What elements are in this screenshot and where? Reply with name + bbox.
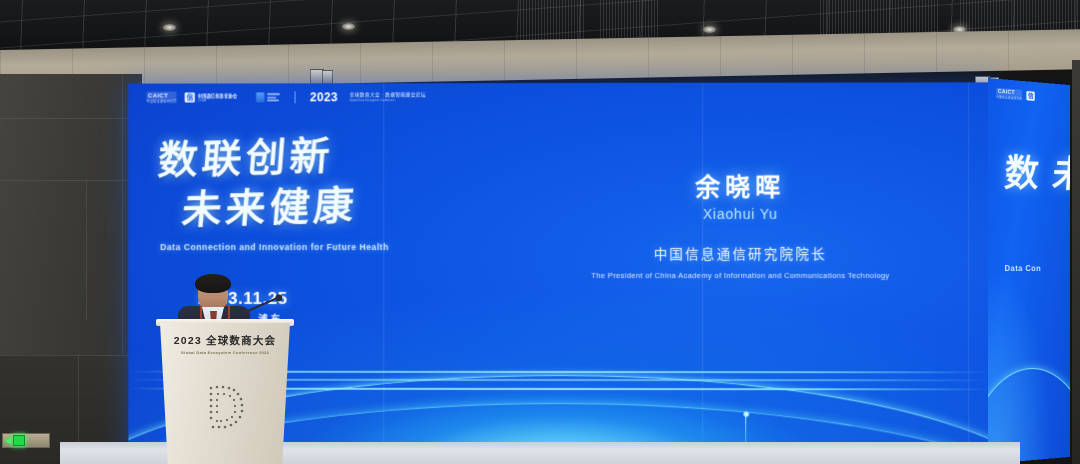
speaker-card: 余晓晖 Xiaohui Yu 中国信息通信研究院院长 The President… [525, 175, 956, 280]
title-line-2: 未来健康 [180, 185, 394, 231]
led-header-logos: CAICT 中国信息通信研究院 信 中国通信标准化协会 CCSA 2023 全球… [146, 91, 426, 104]
podium-sign: 2023 全球数商大会 Global Data Ecosystem Confer… [160, 333, 290, 355]
led-right-subtitle: Data Con [1005, 263, 1042, 273]
title-line-1: 数联创新 [156, 135, 394, 181]
ceiling-downlight [703, 26, 716, 33]
speaker-role-cn: 中国信息通信研究院院长 [525, 242, 956, 262]
event-name-en: Global Data Ecosystem Conference [350, 99, 426, 103]
ccsa-logo-sub: CCSA [198, 99, 237, 103]
header-divider [294, 92, 295, 104]
ccsa-logo: 信 [1027, 91, 1035, 101]
caict-logo-sub: 中国信息通信研究院 [146, 101, 176, 104]
speaker-name-en: Xiaohui Yu [525, 205, 956, 221]
led-right-title: 数 未 [1002, 146, 1070, 203]
ccsa-logo-name: 中国通信标准化协会 [198, 93, 237, 99]
event-emblem-icon [256, 93, 279, 103]
ccsa-logo-mark: 信 [185, 93, 195, 103]
caict-logo-sub: 中国信息通信研究院 [996, 96, 1022, 101]
right-wall-edge [1072, 60, 1080, 464]
caict-logo: CAICT 中国信息通信研究院 [996, 88, 1022, 102]
conference-photo: CAICT 中国信息通信研究院 信 中国通信标准化协会 CCSA 2023 全球… [0, 0, 1080, 464]
ceiling-speaker-box [322, 70, 333, 84]
led-title-block: 数联创新 未来健康 Data Connection and Innovation… [158, 138, 392, 252]
event-year: 2023 [310, 92, 338, 104]
speaker-hair [195, 274, 231, 293]
caict-logo: CAICT 中国信息通信研究院 [146, 92, 176, 105]
caict-logo-mark: CAICT [146, 92, 176, 100]
podium-sign-cn: 2023 全球数商大会 [160, 333, 290, 348]
exit-arrow-icon [5, 438, 11, 444]
exit-sign [2, 433, 50, 448]
speaker-role-en: The President of China Academy of Inform… [525, 270, 956, 279]
running-man-icon [13, 435, 25, 446]
ceiling-downlight [342, 23, 355, 30]
ccsa-logo-mark: 信 [1027, 91, 1035, 101]
podium-logo-d-icon [203, 383, 247, 431]
speaker-name-cn: 余晓晖 [525, 175, 956, 203]
led-wall-right: CAICT 中国信息通信研究院 信 数 未 Data Con [988, 78, 1070, 464]
podium-sign-en: Global Data Ecosystem Conference 2023 [160, 350, 290, 355]
ceiling-downlight [163, 24, 176, 31]
ccsa-logo: 信 中国通信标准化协会 CCSA [185, 93, 237, 103]
led-right-header-logos: CAICT 中国信息通信研究院 信 [996, 88, 1035, 103]
title-subtitle-en: Data Connection and Innovation for Futur… [160, 242, 392, 252]
podium: 2023 全球数商大会 Global Data Ecosystem Confer… [160, 323, 290, 464]
